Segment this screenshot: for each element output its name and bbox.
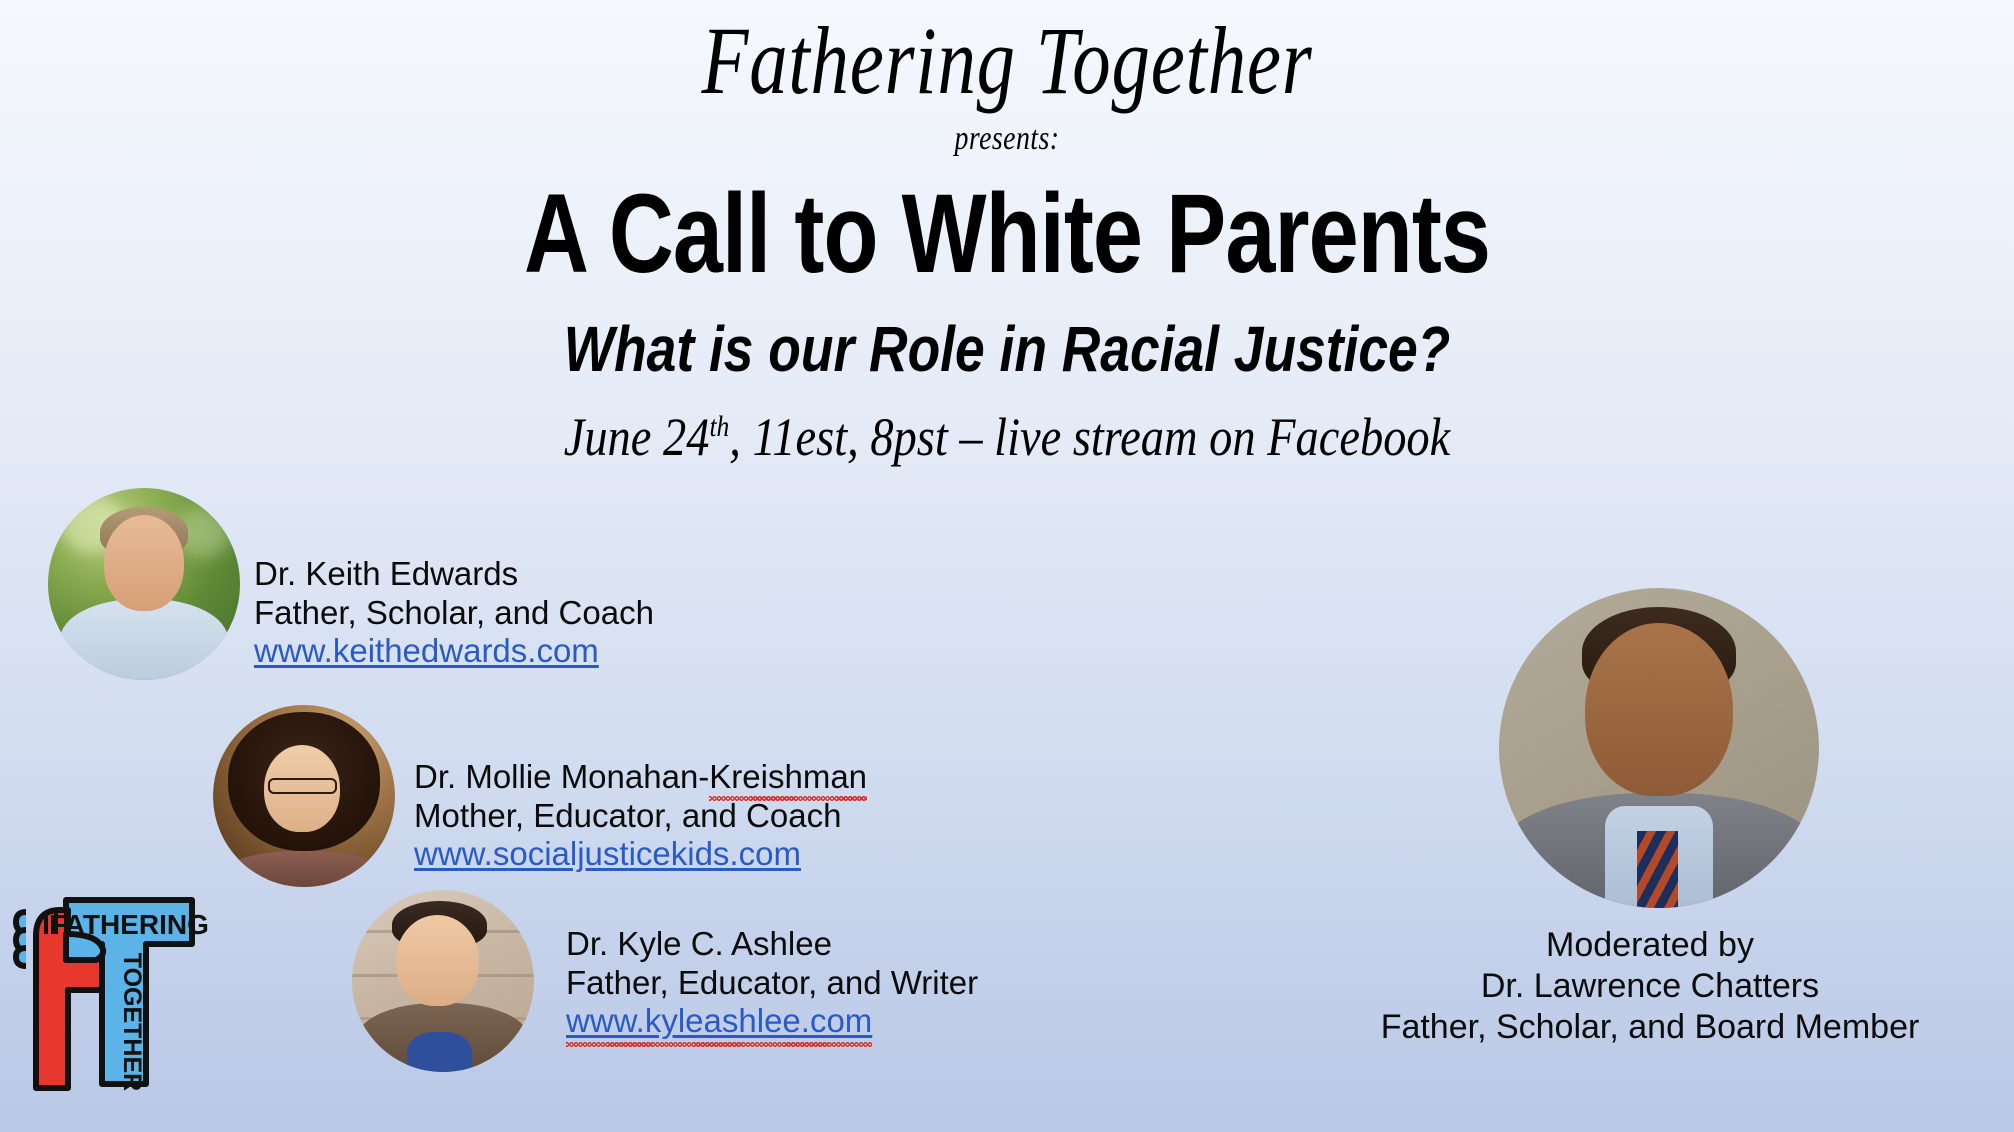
speaker-kyle-ashlee: Dr. Kyle C. Ashlee Father, Educator, and… (566, 925, 978, 1041)
speaker-name: Dr. Kyle C. Ashlee (566, 925, 978, 964)
speaker-keith-edwards: Dr. Keith Edwards Father, Scholar, and C… (254, 555, 654, 671)
logo-word-horizontal: FATHERING (49, 909, 209, 940)
speaker-role: Father, Educator, and Writer (566, 964, 978, 1003)
date-suffix: , 11est, 8pst – live stream on Facebook (729, 407, 1450, 467)
speaker-name: Dr. Mollie Monahan-Kreishman (414, 758, 867, 797)
event-datetime: June 24th, 11est, 8pst – live stream on … (141, 410, 1873, 464)
speaker-role: Father, Scholar, and Coach (254, 594, 654, 633)
speaker-name-misspelled-word: Kreishman (709, 758, 867, 797)
page-title: A Call to White Parents (101, 178, 1914, 290)
speaker-mollie-monahan-kreishman: Dr. Mollie Monahan-Kreishman Mother, Edu… (414, 758, 867, 874)
moderator-name: Dr. Lawrence Chatters (1300, 966, 2000, 1007)
mollie-monahan-kreishman-portrait (213, 705, 395, 887)
speaker-website-link[interactable]: www.socialjusticekids.com (414, 835, 801, 872)
headline-block: Fathering Together presents: A Call to W… (0, 0, 2014, 464)
fathering-together-logo: FATHERING TOGETHER (10, 872, 210, 1112)
date-ordinal-suffix: th (709, 411, 729, 443)
flyer-canvas: Fathering Together presents: A Call to W… (0, 0, 2014, 1132)
presents-label: presents: (181, 120, 1832, 158)
event-subtitle: What is our Role in Racial Justice? (81, 318, 1934, 382)
organization-title: Fathering Together (201, 12, 1812, 110)
date-prefix: June 24 (564, 407, 710, 467)
speaker-name: Dr. Keith Edwards (254, 555, 654, 594)
speaker-website-link[interactable]: www.keithedwards.com (254, 632, 599, 669)
speaker-role: Mother, Educator, and Coach (414, 797, 867, 836)
speaker-website-link[interactable]: www.kyleashlee.com (566, 1002, 872, 1041)
kyle-ashlee-portrait (352, 890, 534, 1072)
lawrence-chatters-portrait (1499, 588, 1819, 908)
keith-edwards-portrait (48, 488, 240, 680)
moderator-label: Moderated by (1300, 925, 2000, 966)
logo-word-vertical: TOGETHER (118, 953, 146, 1091)
moderator-block: Moderated by Dr. Lawrence Chatters Fathe… (1300, 925, 2000, 1047)
moderator-role: Father, Scholar, and Board Member (1300, 1007, 2000, 1048)
speaker-name-prefix: Dr. Mollie Monahan- (414, 758, 709, 795)
